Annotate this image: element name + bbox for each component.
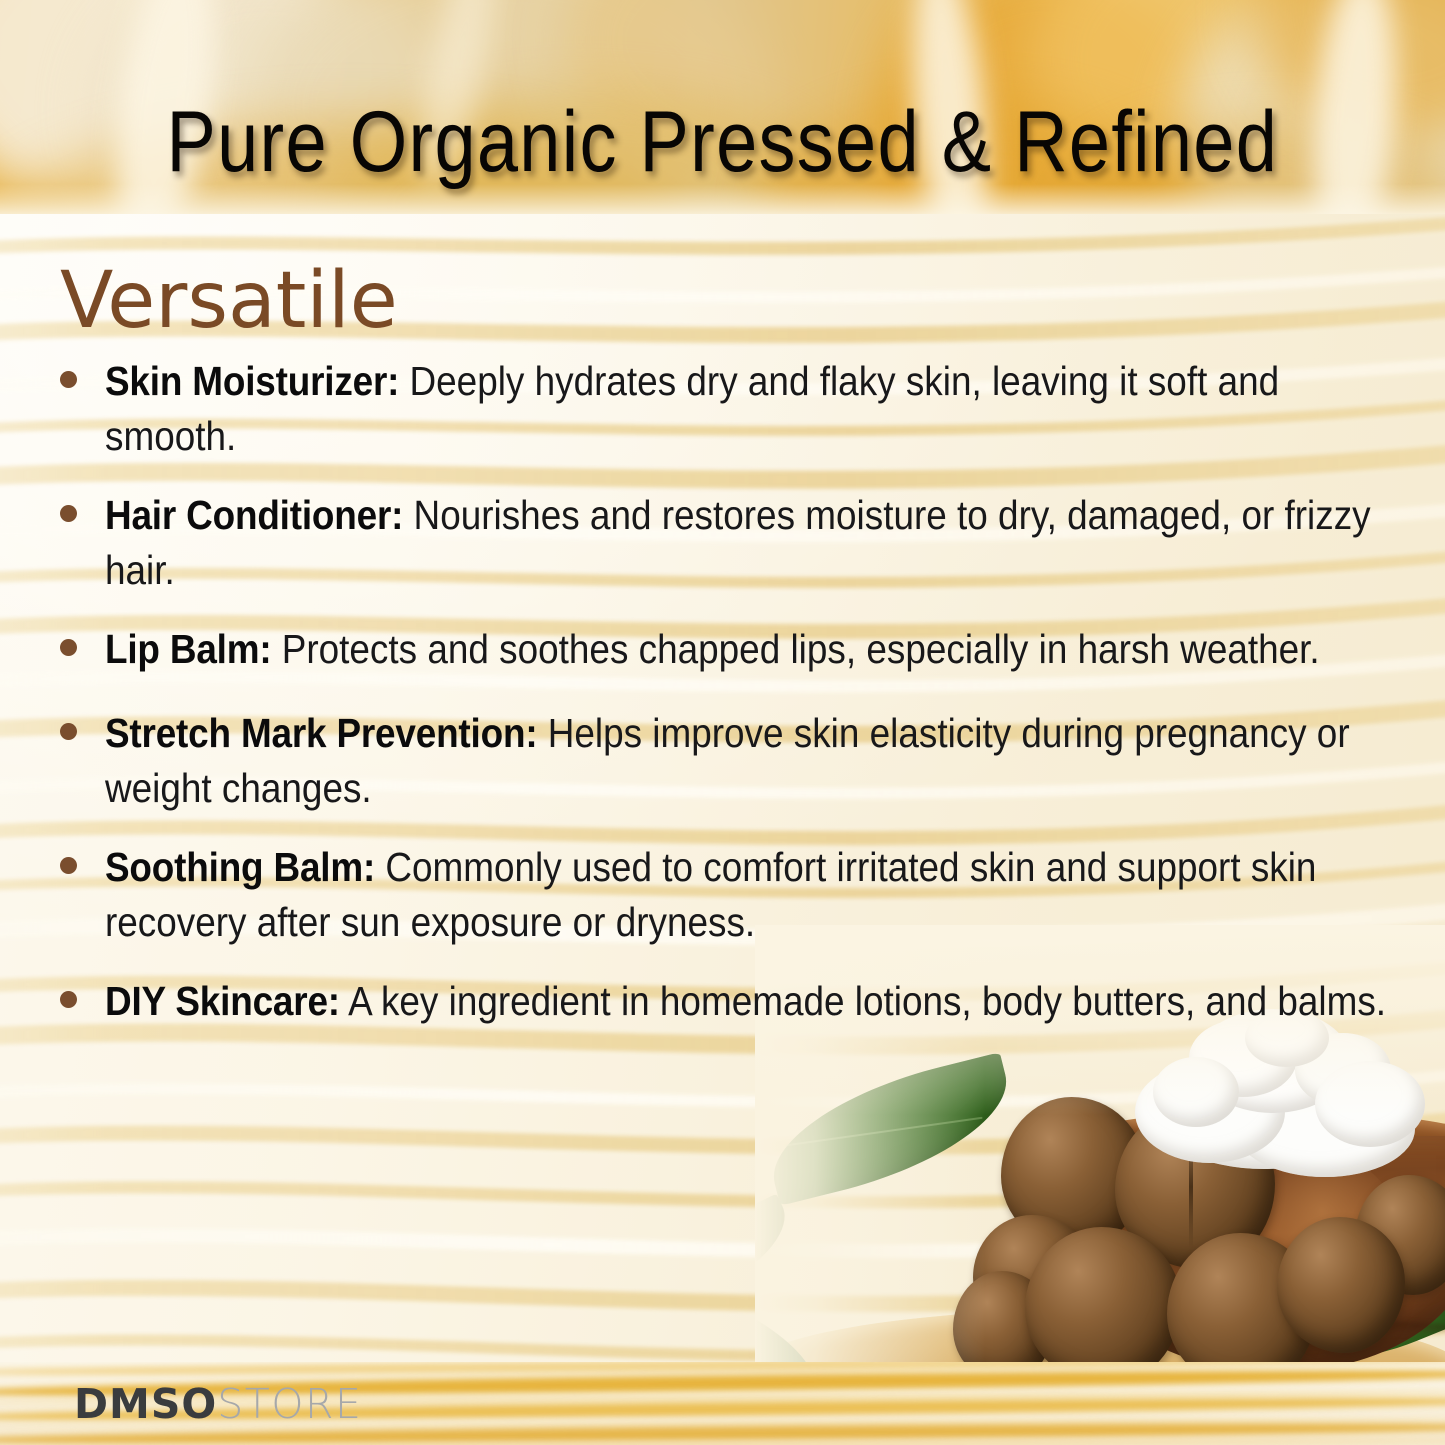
benefit-text: Hair Conditioner: Nourishes and restores…: [105, 488, 1399, 598]
benefit-term: Soothing Balm:: [105, 844, 375, 890]
footer-banner: DMSOSTORE: [0, 1362, 1445, 1445]
benefit-description: A key ingredient in homemade lotions, bo…: [340, 978, 1386, 1024]
benefit-term: Lip Balm:: [105, 626, 271, 672]
bullet-icon: [60, 991, 77, 1008]
header-title-wrap: Pure Organic Pressed & Refined: [0, 0, 1445, 214]
benefit-text: Soothing Balm: Commonly used to comfort …: [105, 840, 1399, 950]
benefits-list: Skin Moisturizer: Deeply hydrates dry an…: [0, 354, 1400, 1058]
page-title: Pure Organic Pressed & Refined: [167, 93, 1279, 192]
benefit-term: Skin Moisturizer:: [105, 358, 399, 404]
bullet-icon: [60, 639, 77, 656]
benefit-text: Skin Moisturizer: Deeply hydrates dry an…: [105, 354, 1399, 464]
logo-dmso: DMSO: [74, 1380, 217, 1428]
list-item: Soothing Balm: Commonly used to comfort …: [0, 840, 1400, 950]
list-item: Lip Balm: Protects and soothes chapped l…: [0, 622, 1400, 682]
benefit-text: DIY Skincare: A key ingredient in homema…: [105, 974, 1399, 1029]
bullet-icon: [60, 371, 77, 388]
section-heading: Versatile: [60, 262, 398, 340]
bullet-icon: [60, 505, 77, 522]
brand-logo[interactable]: DMSOSTORE: [74, 1380, 362, 1428]
benefit-description: Protects and soothes chapped lips, espec…: [271, 626, 1319, 672]
logo-store: STORE: [217, 1380, 362, 1428]
benefit-term: Hair Conditioner:: [105, 492, 403, 538]
list-item: Skin Moisturizer: Deeply hydrates dry an…: [0, 354, 1400, 464]
benefit-text: Lip Balm: Protects and soothes chapped l…: [105, 622, 1399, 677]
bullet-icon: [60, 723, 77, 740]
benefit-text: Stretch Mark Prevention: Helps improve s…: [105, 706, 1399, 816]
benefit-term: Stretch Mark Prevention:: [105, 710, 537, 756]
bullet-icon: [60, 857, 77, 874]
benefit-term: DIY Skincare:: [105, 978, 340, 1024]
shea-nut: [1277, 1217, 1405, 1353]
list-item: Stretch Mark Prevention: Helps improve s…: [0, 706, 1400, 816]
infographic-page: Pure Organic Pressed & Refined Versatile…: [0, 0, 1445, 1445]
list-item: Hair Conditioner: Nourishes and restores…: [0, 488, 1400, 598]
list-item: DIY Skincare: A key ingredient in homema…: [0, 974, 1400, 1034]
